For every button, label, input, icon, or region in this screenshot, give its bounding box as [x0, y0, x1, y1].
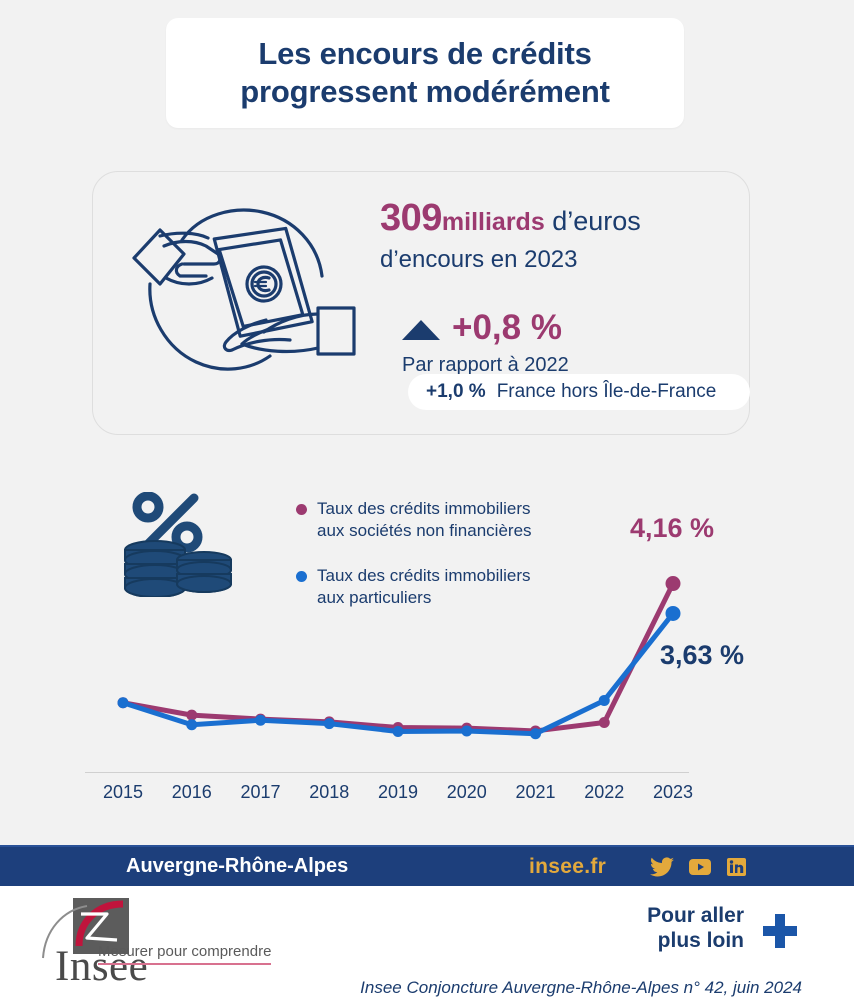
x-axis-tick-2017: 2017 [240, 782, 280, 803]
x-axis-tick-2020: 2020 [447, 782, 487, 803]
publication-caption: Insee Conjoncture Auvergne-Rhône-Alpes n… [360, 978, 802, 998]
trend-up-icon [402, 320, 440, 340]
chart-point [186, 719, 197, 730]
comparison-pill: +1,0 % France hors Île-de-France [408, 374, 750, 410]
end-label-societes: 4,16 % [630, 513, 714, 544]
amount-caption: d’encours en 2023 [380, 246, 750, 275]
website-link[interactable]: insee.fr [529, 855, 606, 879]
chart-point [324, 718, 335, 729]
cta-line-2: plus loin [647, 929, 744, 954]
trend-value: +0,8 % [452, 308, 562, 348]
x-axis-line [85, 772, 689, 773]
end-label-particuliers: 3,63 % [660, 640, 744, 671]
twitter-icon[interactable] [650, 857, 674, 877]
evolution-row: +0,8 % [402, 308, 750, 348]
comparison-label: France hors Île-de-France [497, 381, 717, 403]
chart-point [393, 726, 404, 737]
x-axis-labels: 201520162017201820192020202120222023 [85, 782, 689, 812]
x-axis-tick-2016: 2016 [172, 782, 212, 803]
page-title-line-2: progressent modérément [240, 73, 609, 111]
page-title-line-1: Les encours de crédits [240, 35, 609, 73]
chart-point [186, 710, 197, 721]
insee-tagline: Mesurer pour comprendre [98, 943, 271, 965]
stats-text-block: 309milliards d’euros d’encours en 2023 +… [380, 196, 750, 377]
x-axis-tick-2018: 2018 [309, 782, 349, 803]
x-axis-tick-2015: 2015 [103, 782, 143, 803]
bottom-bar: Insee Mesurer pour comprendre Pour aller… [0, 886, 854, 1008]
region-name: Auvergne-Rhône-Alpes [126, 855, 348, 878]
social-links [650, 857, 747, 877]
cta-pour-aller-plus-loin[interactable]: Pour aller plus loin [647, 904, 744, 954]
x-axis-tick-2021: 2021 [515, 782, 555, 803]
chart-point [118, 697, 129, 708]
chart-plot [85, 490, 689, 772]
plus-icon[interactable] [761, 912, 799, 950]
amount-line: 309milliards d’euros [380, 196, 750, 242]
chart-point [666, 606, 681, 621]
hands-exchanging-banknote-icon [122, 192, 362, 392]
amount-unit: milliards [442, 208, 545, 236]
youtube-icon[interactable] [688, 857, 712, 877]
linkedin-icon[interactable] [726, 857, 747, 877]
cta-line-1: Pour aller [647, 904, 744, 929]
x-axis-tick-2019: 2019 [378, 782, 418, 803]
title-card: Les encours de crédits progressent modér… [166, 18, 684, 128]
line-chart: 201520162017201820192020202120222023 [85, 490, 705, 820]
amount-suffix: d’euros [552, 206, 641, 236]
chart-point [530, 728, 541, 739]
chart-point [255, 715, 266, 726]
chart-point [599, 717, 610, 728]
x-axis-tick-2022: 2022 [584, 782, 624, 803]
footer-bar: Auvergne-Rhône-Alpes insee.fr [0, 845, 854, 888]
x-axis-tick-2023: 2023 [653, 782, 693, 803]
chart-point [599, 695, 610, 706]
chart-point [666, 576, 681, 591]
chart-point [461, 725, 472, 736]
comparison-value: +1,0 % [426, 381, 486, 403]
page-title: Les encours de crédits progressent modér… [240, 35, 609, 111]
amount-value: 309 [380, 197, 442, 239]
